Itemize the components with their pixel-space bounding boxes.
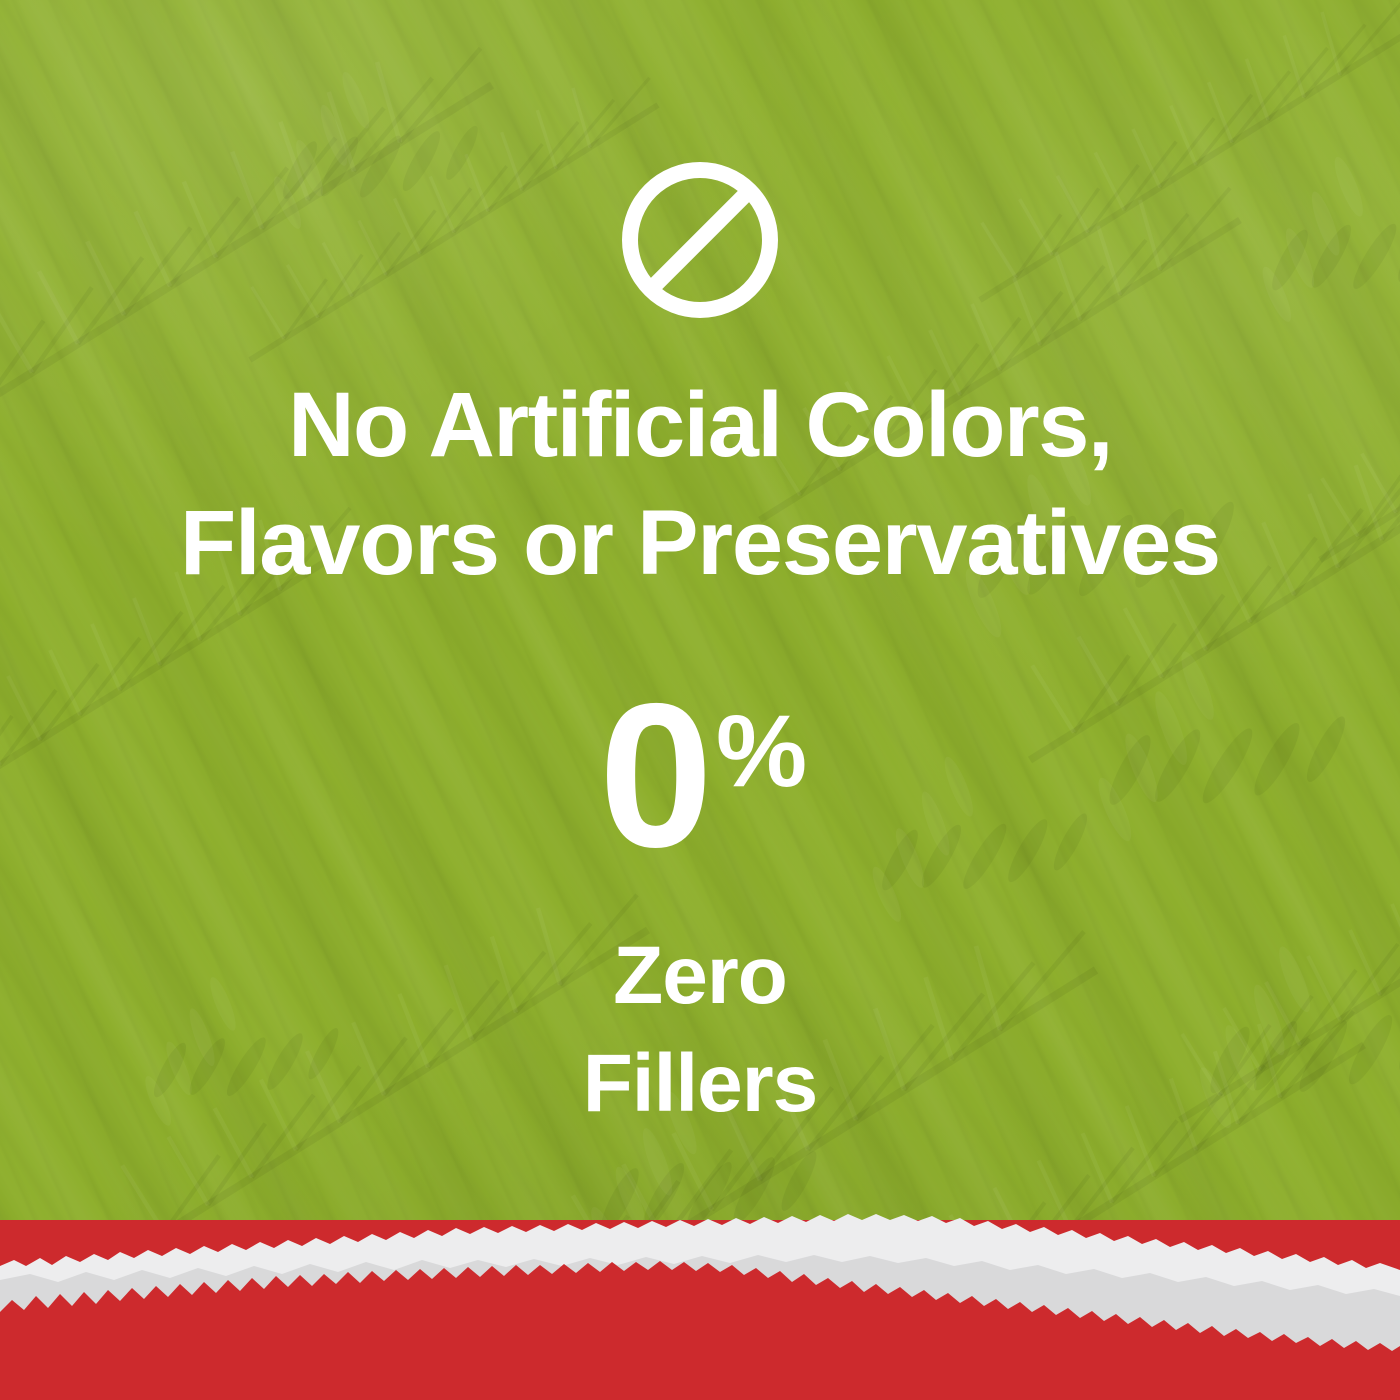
prohibition-icon [612,152,788,328]
benefit-callout-poster: No Artificial Colors, Flavors or Preserv… [0,0,1400,1400]
stat-label-line-2: Fillers [0,1030,1400,1138]
headline: No Artificial Colors, Flavors or Preserv… [0,366,1400,602]
headline-line-2: Flavors or Preservatives [0,484,1400,602]
poster-content: No Artificial Colors, Flavors or Preserv… [0,0,1400,1310]
stat-label: Zero Fillers [0,922,1400,1138]
stat-label-line-1: Zero [0,922,1400,1030]
stat-number-value: 0 [599,661,710,890]
stat-percent-sign: % [716,693,807,808]
headline-line-1: No Artificial Colors, [0,366,1400,484]
stat-number: 0% [599,690,801,862]
stat-percentage: 0% [0,690,1400,862]
torn-paper-edge [0,1170,1400,1400]
